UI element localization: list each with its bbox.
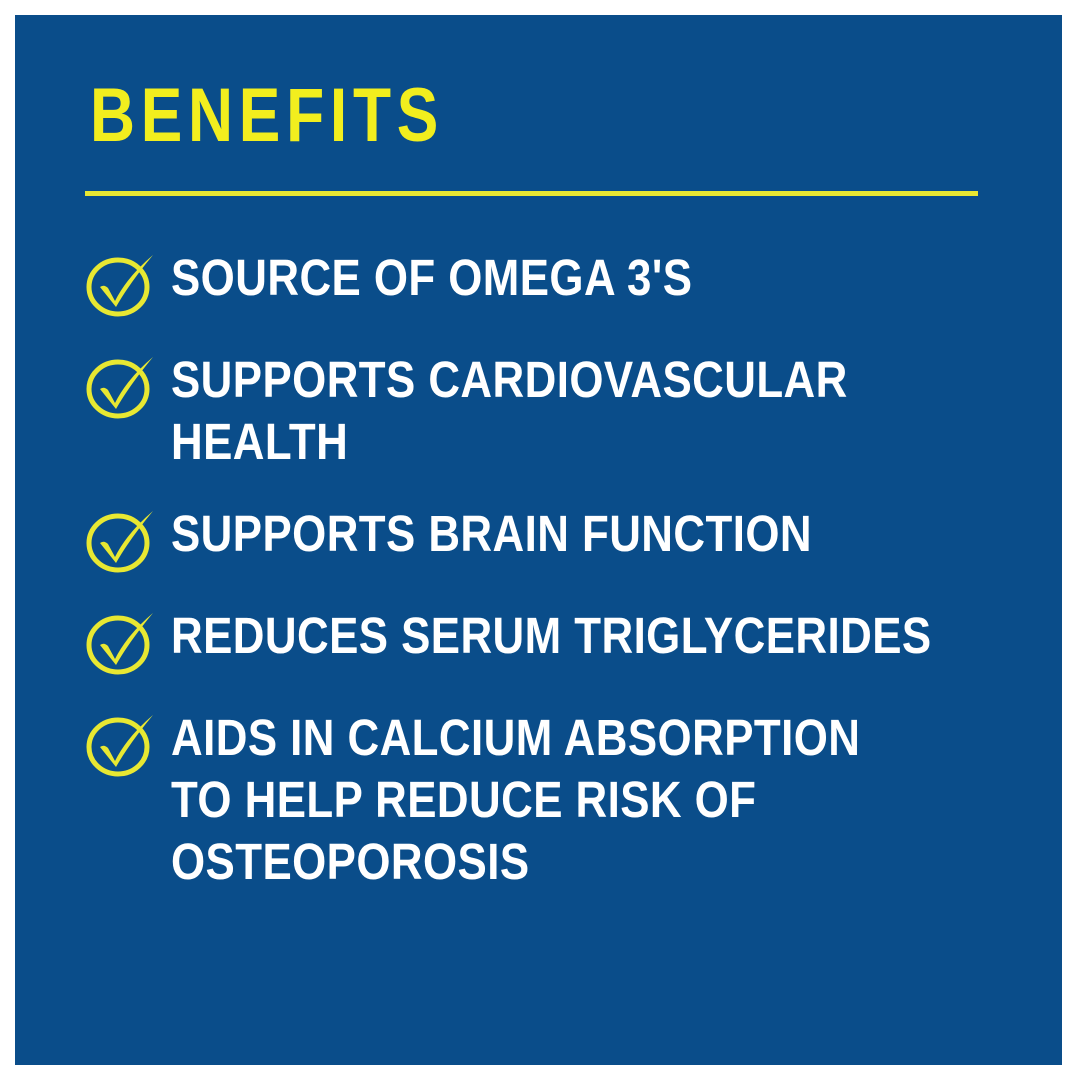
benefit-item-brain-function: SUPPORTS BRAIN FUNCTION [85, 503, 1005, 575]
benefits-panel: BENEFITS SOURCE OF OMEGA 3'S SUPPORTS CA… [15, 15, 1062, 1065]
benefit-label-omega-3: SOURCE OF OMEGA 3'S [171, 247, 888, 309]
benefit-label-cardiovascular-health: SUPPORTS CARDIOVASCULARHEALTH [171, 349, 888, 473]
title-divider [85, 191, 978, 196]
benefits-list: SOURCE OF OMEGA 3'S SUPPORTS CARDIOVASCU… [85, 247, 1005, 893]
check-circle-icon [85, 707, 171, 779]
check-circle-icon [85, 247, 171, 319]
check-circle-icon [85, 605, 171, 677]
benefit-item-calcium-absorption: AIDS IN CALCIUM ABSORPTIONTO HELP REDUCE… [85, 707, 1005, 893]
benefit-item-cardiovascular-health: SUPPORTS CARDIOVASCULARHEALTH [85, 349, 1005, 473]
check-circle-icon [85, 503, 171, 575]
benefit-label-serum-triglycerides: REDUCES SERUM TRIGLYCERIDES [171, 605, 932, 667]
benefit-item-serum-triglycerides: REDUCES SERUM TRIGLYCERIDES [85, 605, 1005, 677]
benefits-panel-root: BENEFITS SOURCE OF OMEGA 3'S SUPPORTS CA… [0, 0, 1080, 1080]
benefit-item-omega-3: SOURCE OF OMEGA 3'S [85, 247, 1005, 319]
check-circle-icon [85, 349, 171, 421]
benefit-label-brain-function: SUPPORTS BRAIN FUNCTION [171, 503, 888, 565]
page-title: BENEFITS [90, 78, 444, 154]
benefit-label-calcium-absorption: AIDS IN CALCIUM ABSORPTIONTO HELP REDUCE… [171, 707, 888, 893]
